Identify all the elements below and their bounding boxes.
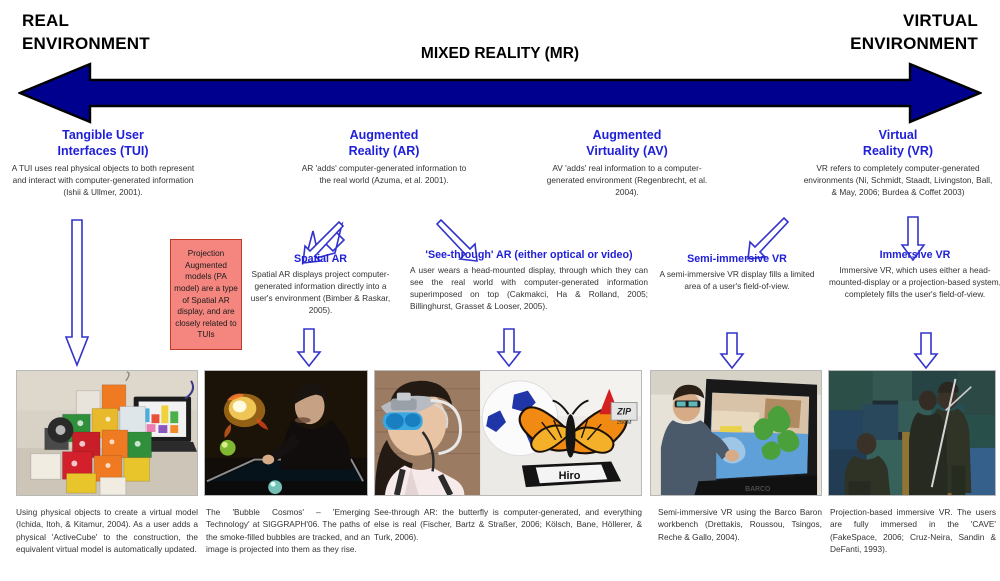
category-title-ar-line2: Reality (AR) <box>298 144 470 160</box>
caption-bubble-cosmos: The 'Bubble Cosmos' – 'Emerging Technolo… <box>206 506 370 556</box>
photo-semi-immersive-vr: BARCO <box>650 370 822 496</box>
continuum-double-arrow-icon <box>18 62 982 124</box>
category-body-av: AV 'adds' real information to a computer… <box>536 162 718 198</box>
subcategory-immersive-vr: Immersive VR Immersive VR, which uses ei… <box>826 249 1000 300</box>
arrow-down-see-through-ar-icon <box>496 328 522 368</box>
arrow-down-tui-icon <box>64 219 90 367</box>
subcategory-title-immersive-vr: Immersive VR <box>826 249 1000 262</box>
category-title-av-line1: Augmented <box>536 128 718 144</box>
category-title-vr: Virtual Reality (VR) <box>800 128 996 159</box>
category-augmented-reality: Augmented Reality (AR) AR 'adds' compute… <box>298 128 470 186</box>
photo-see-through-ar: Hiro ZIP 250M <box>374 370 642 496</box>
photo-tangible-user-interface <box>16 370 198 496</box>
subcategory-body-spatial-ar: Spatial AR displays project computer-gen… <box>248 268 393 316</box>
photo-bubble-cosmos <box>204 370 368 496</box>
svg-text:BARCO: BARCO <box>745 486 771 493</box>
subcategory-see-through-ar: 'See-through' AR (either optical or vide… <box>410 249 648 312</box>
photo-semi-immersive-vr-illustration: BARCO <box>651 371 821 495</box>
svg-text:Hiro: Hiro <box>559 470 581 482</box>
subcategory-body-immersive-vr: Immersive VR, which uses either a head-m… <box>826 264 1000 300</box>
subcategory-body-semi-immersive-vr: A semi-immersive VR display fills a limi… <box>657 268 817 292</box>
caption-immersive-vr: Projection-based immersive VR. The users… <box>830 506 996 556</box>
category-tangible-user-interfaces: Tangible User Interfaces (TUI) A TUI use… <box>8 128 198 198</box>
caption-see-through-ar: See-through AR: the butterfly is compute… <box>374 506 642 543</box>
subcategory-body-see-through-ar: A user wears a head-mounted display, thr… <box>410 264 648 312</box>
category-title-ar-line1: Augmented <box>298 128 470 144</box>
svg-text:250M: 250M <box>617 420 632 426</box>
category-body-vr: VR refers to completely computer-generat… <box>800 162 996 198</box>
real-environment-label-line1: REAL <box>22 10 150 33</box>
subcategory-title-semi-immersive-vr: Semi-immersive VR <box>657 253 817 266</box>
category-augmented-virtuality: Augmented Virtuality (AV) AV 'adds' real… <box>536 128 718 198</box>
virtual-environment-label-line1: VIRTUAL <box>850 10 978 33</box>
category-body-ar: AR 'adds' computer-generated information… <box>298 162 470 186</box>
photo-tui-illustration <box>17 371 197 495</box>
category-title-tui-line1: Tangible User <box>8 128 198 144</box>
pa-box-text: Projection Augmented models (PA model) a… <box>174 248 238 341</box>
arrow-down-semi-immersive-vr-photo-icon <box>719 332 745 370</box>
subcategory-title-spatial-ar: Spatial AR <box>248 253 393 266</box>
subcategory-spatial-ar: Spatial AR Spatial AR displays project c… <box>248 253 393 316</box>
subcategory-semi-immersive-vr: Semi-immersive VR A semi-immersive VR di… <box>657 253 817 292</box>
category-title-av: Augmented Virtuality (AV) <box>536 128 718 159</box>
svg-text:ZIP: ZIP <box>616 406 631 416</box>
photo-see-through-ar-illustration: Hiro ZIP 250M <box>375 371 641 495</box>
mixed-reality-label: MIXED REALITY (MR) <box>0 45 1000 63</box>
caption-semi-immersive-vr: Semi-immersive VR using the Barco Baron … <box>658 506 822 543</box>
category-title-tui-line2: Interfaces (TUI) <box>8 144 198 160</box>
caption-tangible-user-interface: Using physical objects to create a virtu… <box>16 506 198 556</box>
photo-immersive-vr-cave <box>828 370 996 496</box>
subcategory-title-see-through-ar: 'See-through' AR (either optical or vide… <box>410 249 648 262</box>
arrow-down-immersive-vr-photo-icon <box>913 332 939 370</box>
photo-immersive-vr-cave-illustration <box>829 371 995 495</box>
category-virtual-reality: Virtual Reality (VR) VR refers to comple… <box>800 128 996 198</box>
category-title-vr-line2: Reality (VR) <box>800 144 996 160</box>
category-title-av-line2: Virtuality (AV) <box>536 144 718 160</box>
category-title-tui: Tangible User Interfaces (TUI) <box>8 128 198 159</box>
category-title-ar: Augmented Reality (AR) <box>298 128 470 159</box>
category-title-vr-line1: Virtual <box>800 128 996 144</box>
category-body-tui: A TUI uses real physical objects to both… <box>8 162 198 198</box>
arrow-down-spatial-ar-icon <box>296 328 322 368</box>
projection-augmented-model-callout: Projection Augmented models (PA model) a… <box>170 239 242 350</box>
photo-bubble-cosmos-illustration <box>205 371 367 495</box>
reality-virtuality-continuum-diagram: REAL ENVIRONMENT VIRTUAL ENVIRONMENT MIX… <box>0 0 1000 581</box>
